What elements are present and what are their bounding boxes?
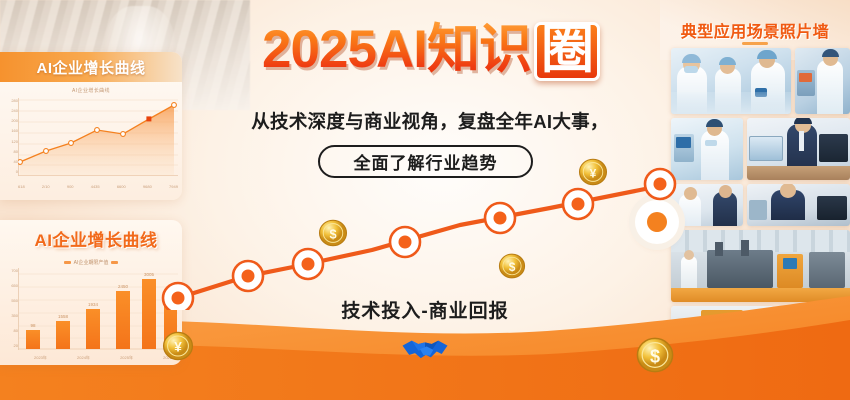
bar-chart-x-axis: 2023年 2024年 2025年 2026年 (34, 355, 176, 361)
y-tick: 200 (2, 118, 18, 123)
x-tick: 2/10 (42, 184, 50, 189)
y-tick: 20 (2, 343, 18, 348)
y-tick: 160 (2, 128, 18, 133)
center-caption: 技术投入-商业回报 (300, 296, 550, 323)
y-tick: 80 (2, 149, 18, 154)
y-tick: 650 (2, 283, 18, 288)
line-chart-y-axis: 280 240 200 160 120 80 40 0 (2, 98, 18, 174)
handshake-icon (400, 332, 450, 366)
legend-swatch-icon (111, 261, 118, 264)
y-tick: 80 (2, 328, 18, 333)
y-tick: 120 (2, 139, 18, 144)
card-bar-title: AI企业增长曲线 (10, 226, 182, 251)
headline-part1: 2025AI (262, 20, 427, 79)
svg-text:$: $ (650, 347, 660, 367)
photo-office-desk (747, 118, 850, 180)
x-tick: 2023年 (34, 355, 47, 361)
y-tick: 240 (2, 108, 18, 113)
svg-text:¥: ¥ (590, 166, 597, 180)
svg-text:1934: 1934 (88, 302, 99, 307)
x-tick: 618 (18, 184, 25, 189)
coin-dollar-3: $ (636, 336, 674, 374)
card-growth-line[interactable]: AI企业增长曲线 AI企业增长曲线 280 240 200 160 120 80… (0, 52, 182, 200)
card-bar-body: AI企业期限产值 700 650 550 350 80 20 (0, 254, 182, 362)
page-subtitle: 从技术深度与商业视角，复盘全年AI大事， (180, 108, 680, 134)
photo-equipment (747, 184, 850, 226)
headline-part2: 知识 (427, 20, 531, 79)
legend-label: AI企业期限产值 (74, 259, 109, 266)
y-tick: 550 (2, 298, 18, 303)
trend-badge-label: 全面了解行业趋势 (354, 149, 498, 174)
svg-text:3005: 3005 (144, 272, 155, 277)
headline-boxed-char: 圈 (534, 22, 600, 81)
line-chart-plot (18, 98, 178, 176)
card-line-title: AI企业增长曲线 (36, 57, 145, 78)
card-line-header: AI企业增长曲线 (0, 52, 182, 82)
svg-text:$: $ (509, 260, 516, 274)
x-tick: 2024年 (77, 355, 90, 361)
hero-growth-line-chart (160, 160, 690, 310)
x-tick: 9680 (143, 184, 152, 189)
x-tick: 900 (67, 184, 74, 189)
bar-chart-legend: AI企业期限产值 (6, 259, 176, 266)
bar-chart-y-axis: 700 650 550 350 80 20 (2, 268, 18, 348)
line-chart-inner-title: AI企业增长曲线 (6, 87, 176, 94)
svg-text:2450: 2450 (118, 284, 129, 289)
svg-text:$: $ (329, 226, 336, 241)
trend-badge[interactable]: 全面了解行业趋势 (318, 145, 533, 178)
coin-dollar-1: $ (318, 218, 348, 248)
bar-chart-plot: 98 1558 1934 2450 3005 2850 (18, 268, 178, 350)
y-tick: 280 (2, 98, 18, 103)
x-tick: 6600 (117, 184, 126, 189)
hero-line-markers (163, 169, 675, 310)
photo-wall-title: 典型应用场景照片墙 (660, 18, 850, 42)
legend-swatch-icon (64, 261, 71, 264)
y-tick: 350 (2, 313, 18, 318)
photo-lab-tech (795, 48, 850, 114)
y-tick: 0 (2, 169, 18, 174)
photo-wall-title-rule (742, 42, 768, 45)
x-tick: 2025年 (120, 355, 133, 361)
x-tick: 4435 (91, 184, 100, 189)
photo-doctors-lab (671, 48, 791, 114)
svg-text:98: 98 (30, 323, 36, 328)
coin-yen-2: ¥ (162, 330, 194, 362)
svg-text:¥: ¥ (174, 340, 182, 355)
ai-knowledge-banner: 典型应用场景照片墙 (0, 0, 850, 400)
line-chart-x-axis: 618 2/10 900 4435 6600 9680 7949 (18, 184, 178, 189)
coin-yen-1: ¥ (578, 157, 608, 187)
svg-text:1558: 1558 (58, 314, 69, 319)
y-tick: 700 (2, 268, 18, 273)
card-line-body: AI企业增长曲线 280 240 200 160 120 80 40 0 (0, 82, 182, 190)
coin-dollar-2: $ (498, 252, 526, 280)
card-growth-bar[interactable]: AI企业增长曲线 AI企业期限产值 700 650 550 350 80 20 (0, 220, 182, 365)
y-tick: 40 (2, 159, 18, 164)
page-title: 2025AI知识圈 (196, 22, 666, 81)
